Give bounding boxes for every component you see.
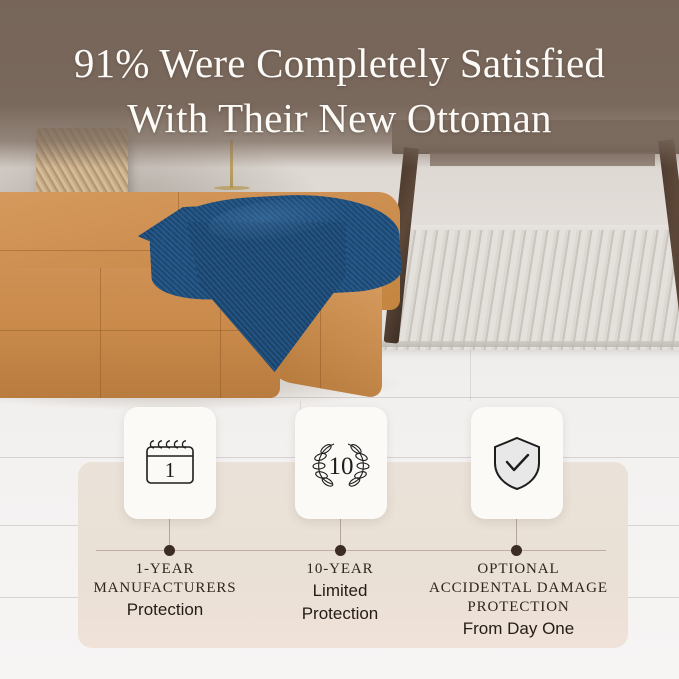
timeline-dot-2 xyxy=(335,545,346,556)
rug-edge xyxy=(372,341,679,347)
feature-card-1[interactable]: 1 xyxy=(124,407,216,519)
feature-3-sans-line-1: From Day One xyxy=(396,618,641,640)
headline-line-1: 91% Were Completely Satisfied xyxy=(0,36,679,91)
feature-3-serif-line-3: PROTECTION xyxy=(396,598,641,617)
headline-line-2: With Their New Ottoman xyxy=(0,91,679,146)
feature-card-2[interactable]: 10 xyxy=(295,407,387,519)
shield-check-icon xyxy=(491,435,543,491)
feature-card-3[interactable] xyxy=(471,407,563,519)
feature-3-serif-line-2: ACCIDENTAL DAMAGE xyxy=(396,579,641,598)
laurel-wreath-ten-icon: 10 xyxy=(310,436,372,490)
page-title: 91% Were Completely Satisfied With Their… xyxy=(0,0,679,146)
feature-3-serif-line-1: OPTIONAL xyxy=(396,560,641,579)
svg-text:1: 1 xyxy=(165,458,176,482)
svg-text:10: 10 xyxy=(329,453,354,480)
lamp-base xyxy=(214,186,250,190)
ottoman-warranty-infographic: 91% Were Completely Satisfied With Their… xyxy=(0,0,679,679)
timeline-dot-1 xyxy=(164,545,175,556)
timeline-dot-3 xyxy=(511,545,522,556)
calendar-one-icon: 1 xyxy=(142,437,198,489)
area-rug xyxy=(366,230,679,350)
feature-label-3: OPTIONAL ACCIDENTAL DAMAGE PROTECTION Fr… xyxy=(396,560,641,640)
